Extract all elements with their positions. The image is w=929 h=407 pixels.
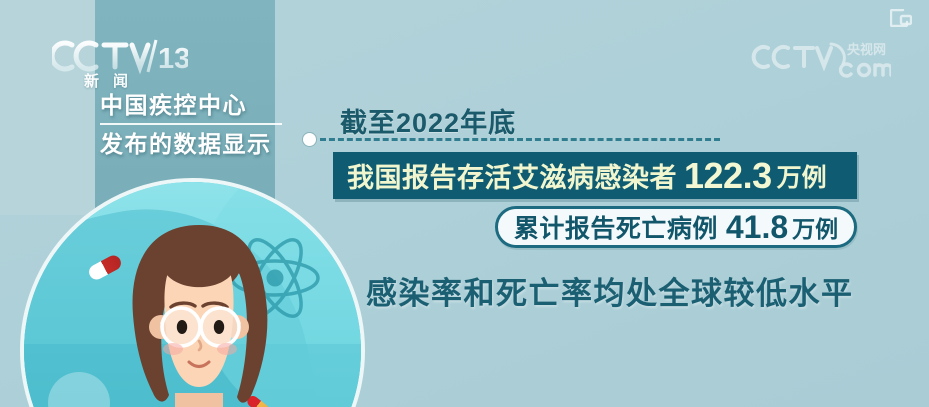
doctor-illustration-circle — [20, 178, 365, 407]
source-line-1: 中国疾控中心 — [100, 90, 290, 120]
cctv-com-watermark: 央视网 — [751, 36, 891, 78]
secondary-stat-label: 累计报告死亡病例 — [514, 209, 718, 245]
connector-dot — [303, 133, 316, 146]
secondary-stat-value: 41.8 — [726, 209, 788, 246]
picture-in-picture-icon[interactable] — [890, 9, 912, 27]
channel-subtitle: 新闻 — [84, 70, 142, 91]
broadcast-news-graphic: 13 新闻 中国疾控中心 发布的数据显示 — [0, 0, 929, 407]
lead-date-text: 截至2022年底 — [340, 101, 516, 140]
secondary-stat-unit: 万例 — [792, 210, 838, 244]
primary-stat-unit: 万例 — [777, 158, 827, 194]
connector-dashed-line — [320, 138, 720, 141]
primary-stat-label: 我国报告存活艾滋病感染者 — [347, 156, 677, 195]
source-divider — [100, 123, 282, 125]
primary-stat-bar: 我国报告存活艾滋病感染者 122.3 万例 — [333, 152, 857, 199]
svg-text:央视网: 央视网 — [847, 42, 886, 57]
closing-statement: 感染率和死亡率均处全球较低水平 — [366, 268, 854, 313]
source-line-2: 发布的数据显示 — [100, 129, 290, 159]
doctor-illustration — [79, 207, 319, 407]
secondary-stat-pill: 累计报告死亡病例 41.8 万例 — [495, 206, 857, 248]
source-title-block: 中国疾控中心 发布的数据显示 — [100, 90, 290, 159]
primary-stat-value: 122.3 — [684, 155, 772, 197]
